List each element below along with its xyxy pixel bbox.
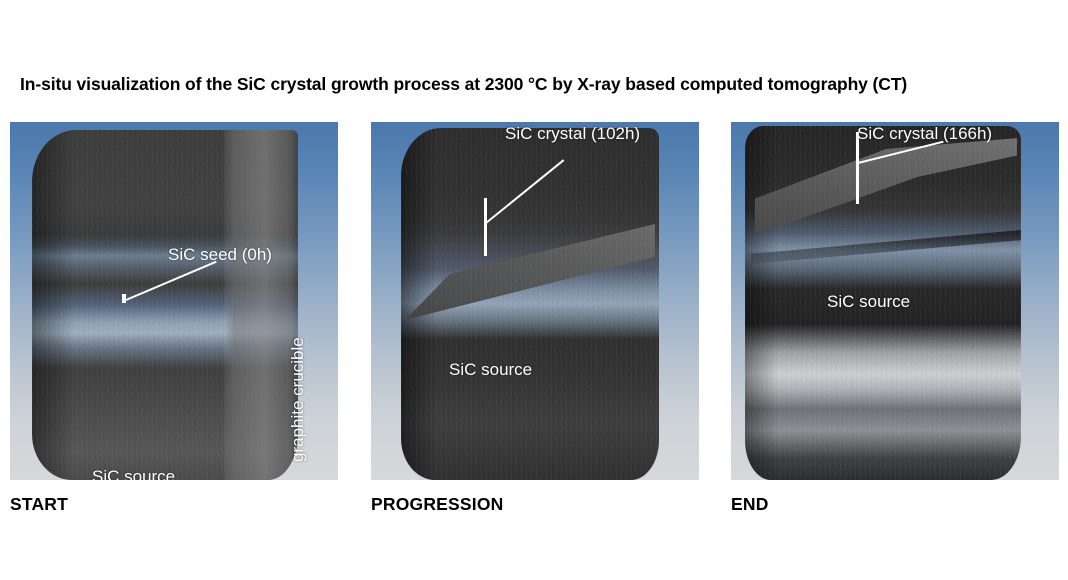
- crystal-wedge: [405, 224, 655, 320]
- crystal-gap-shadow: [751, 230, 1021, 264]
- crystal-slab: [755, 136, 1017, 244]
- caption-start: START: [10, 494, 68, 515]
- ct-panel-progression: SiC crystal (102h) SiC source: [371, 122, 699, 480]
- crystal-thickness-bar: [484, 198, 487, 256]
- ct-panel-end: SiC crystal (166h) SiC source: [731, 122, 1059, 480]
- label-sic-source: SiC source: [827, 292, 910, 312]
- label-sic-crystal: SiC crystal (166h): [857, 124, 992, 144]
- ct-panel-start: SiC seed (0h) SiC source graphite crucib…: [10, 122, 338, 480]
- ct-image-progression: SiC crystal (102h) SiC source: [371, 122, 699, 480]
- ct-image-end: SiC crystal (166h) SiC source: [731, 122, 1059, 480]
- label-sic-source: SiC source: [449, 360, 532, 380]
- label-sic-source: SiC source: [92, 467, 175, 480]
- crucible-render-start: [32, 130, 298, 480]
- caption-end: END: [731, 494, 769, 515]
- label-graphite-crucible: graphite crucible: [288, 337, 308, 462]
- caption-progression: PROGRESSION: [371, 494, 504, 515]
- page-title: In-situ visualization of the SiC crystal…: [20, 74, 907, 95]
- ct-image-start: SiC seed (0h) SiC source graphite crucib…: [10, 122, 338, 480]
- crucible-render-progression: [401, 128, 659, 480]
- label-sic-seed: SiC seed (0h): [168, 245, 272, 265]
- label-sic-crystal: SiC crystal (102h): [505, 124, 640, 144]
- graphite-wall: [224, 130, 298, 480]
